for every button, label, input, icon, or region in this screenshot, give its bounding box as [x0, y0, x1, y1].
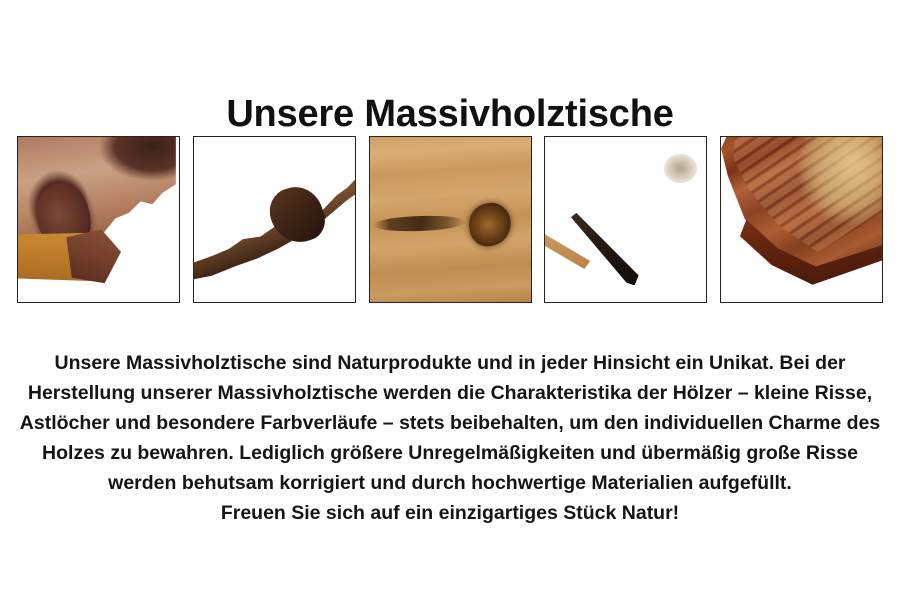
wood-photo-rough-sawn	[545, 137, 706, 302]
gallery-image-1[interactable]	[17, 136, 180, 303]
wood-photo-grain-knot	[370, 137, 531, 302]
wood-knot	[467, 200, 514, 248]
wood-photo-sheesham-corner	[721, 137, 882, 302]
page-title: Unsere Massivholztische	[0, 91, 900, 137]
description-line: Unsere Massivholztische sind Naturproduk…	[0, 348, 900, 378]
wood-crack	[372, 215, 466, 233]
description-line: Freuen Sie sich auf ein einzigartiges St…	[0, 498, 900, 528]
gallery-image-3[interactable]	[369, 136, 532, 303]
gallery-image-5[interactable]	[720, 136, 883, 303]
product-info-page: Unsere Massivholztische	[0, 0, 900, 600]
gallery-image-2[interactable]	[193, 136, 356, 303]
wood-knot	[664, 154, 696, 184]
description-line: Herstellung unserer Massivholztische wer…	[0, 378, 900, 408]
wood-sample-gallery	[17, 136, 883, 303]
description-paragraph: Unsere Massivholztische sind Naturproduk…	[0, 348, 900, 528]
wood-edge-band-dark	[66, 229, 121, 285]
description-line: Holzes zu bewahren. Lediglich größere Un…	[0, 438, 900, 468]
wood-photo-live-edge-walnut	[18, 137, 179, 302]
description-line: Astlöcher und besondere Farbverläufe – s…	[0, 408, 900, 438]
wood-photo-pale-ash	[194, 137, 355, 302]
description-line: werden behutsam korrigiert und durch hoc…	[0, 468, 900, 498]
gallery-image-4[interactable]	[544, 136, 707, 303]
